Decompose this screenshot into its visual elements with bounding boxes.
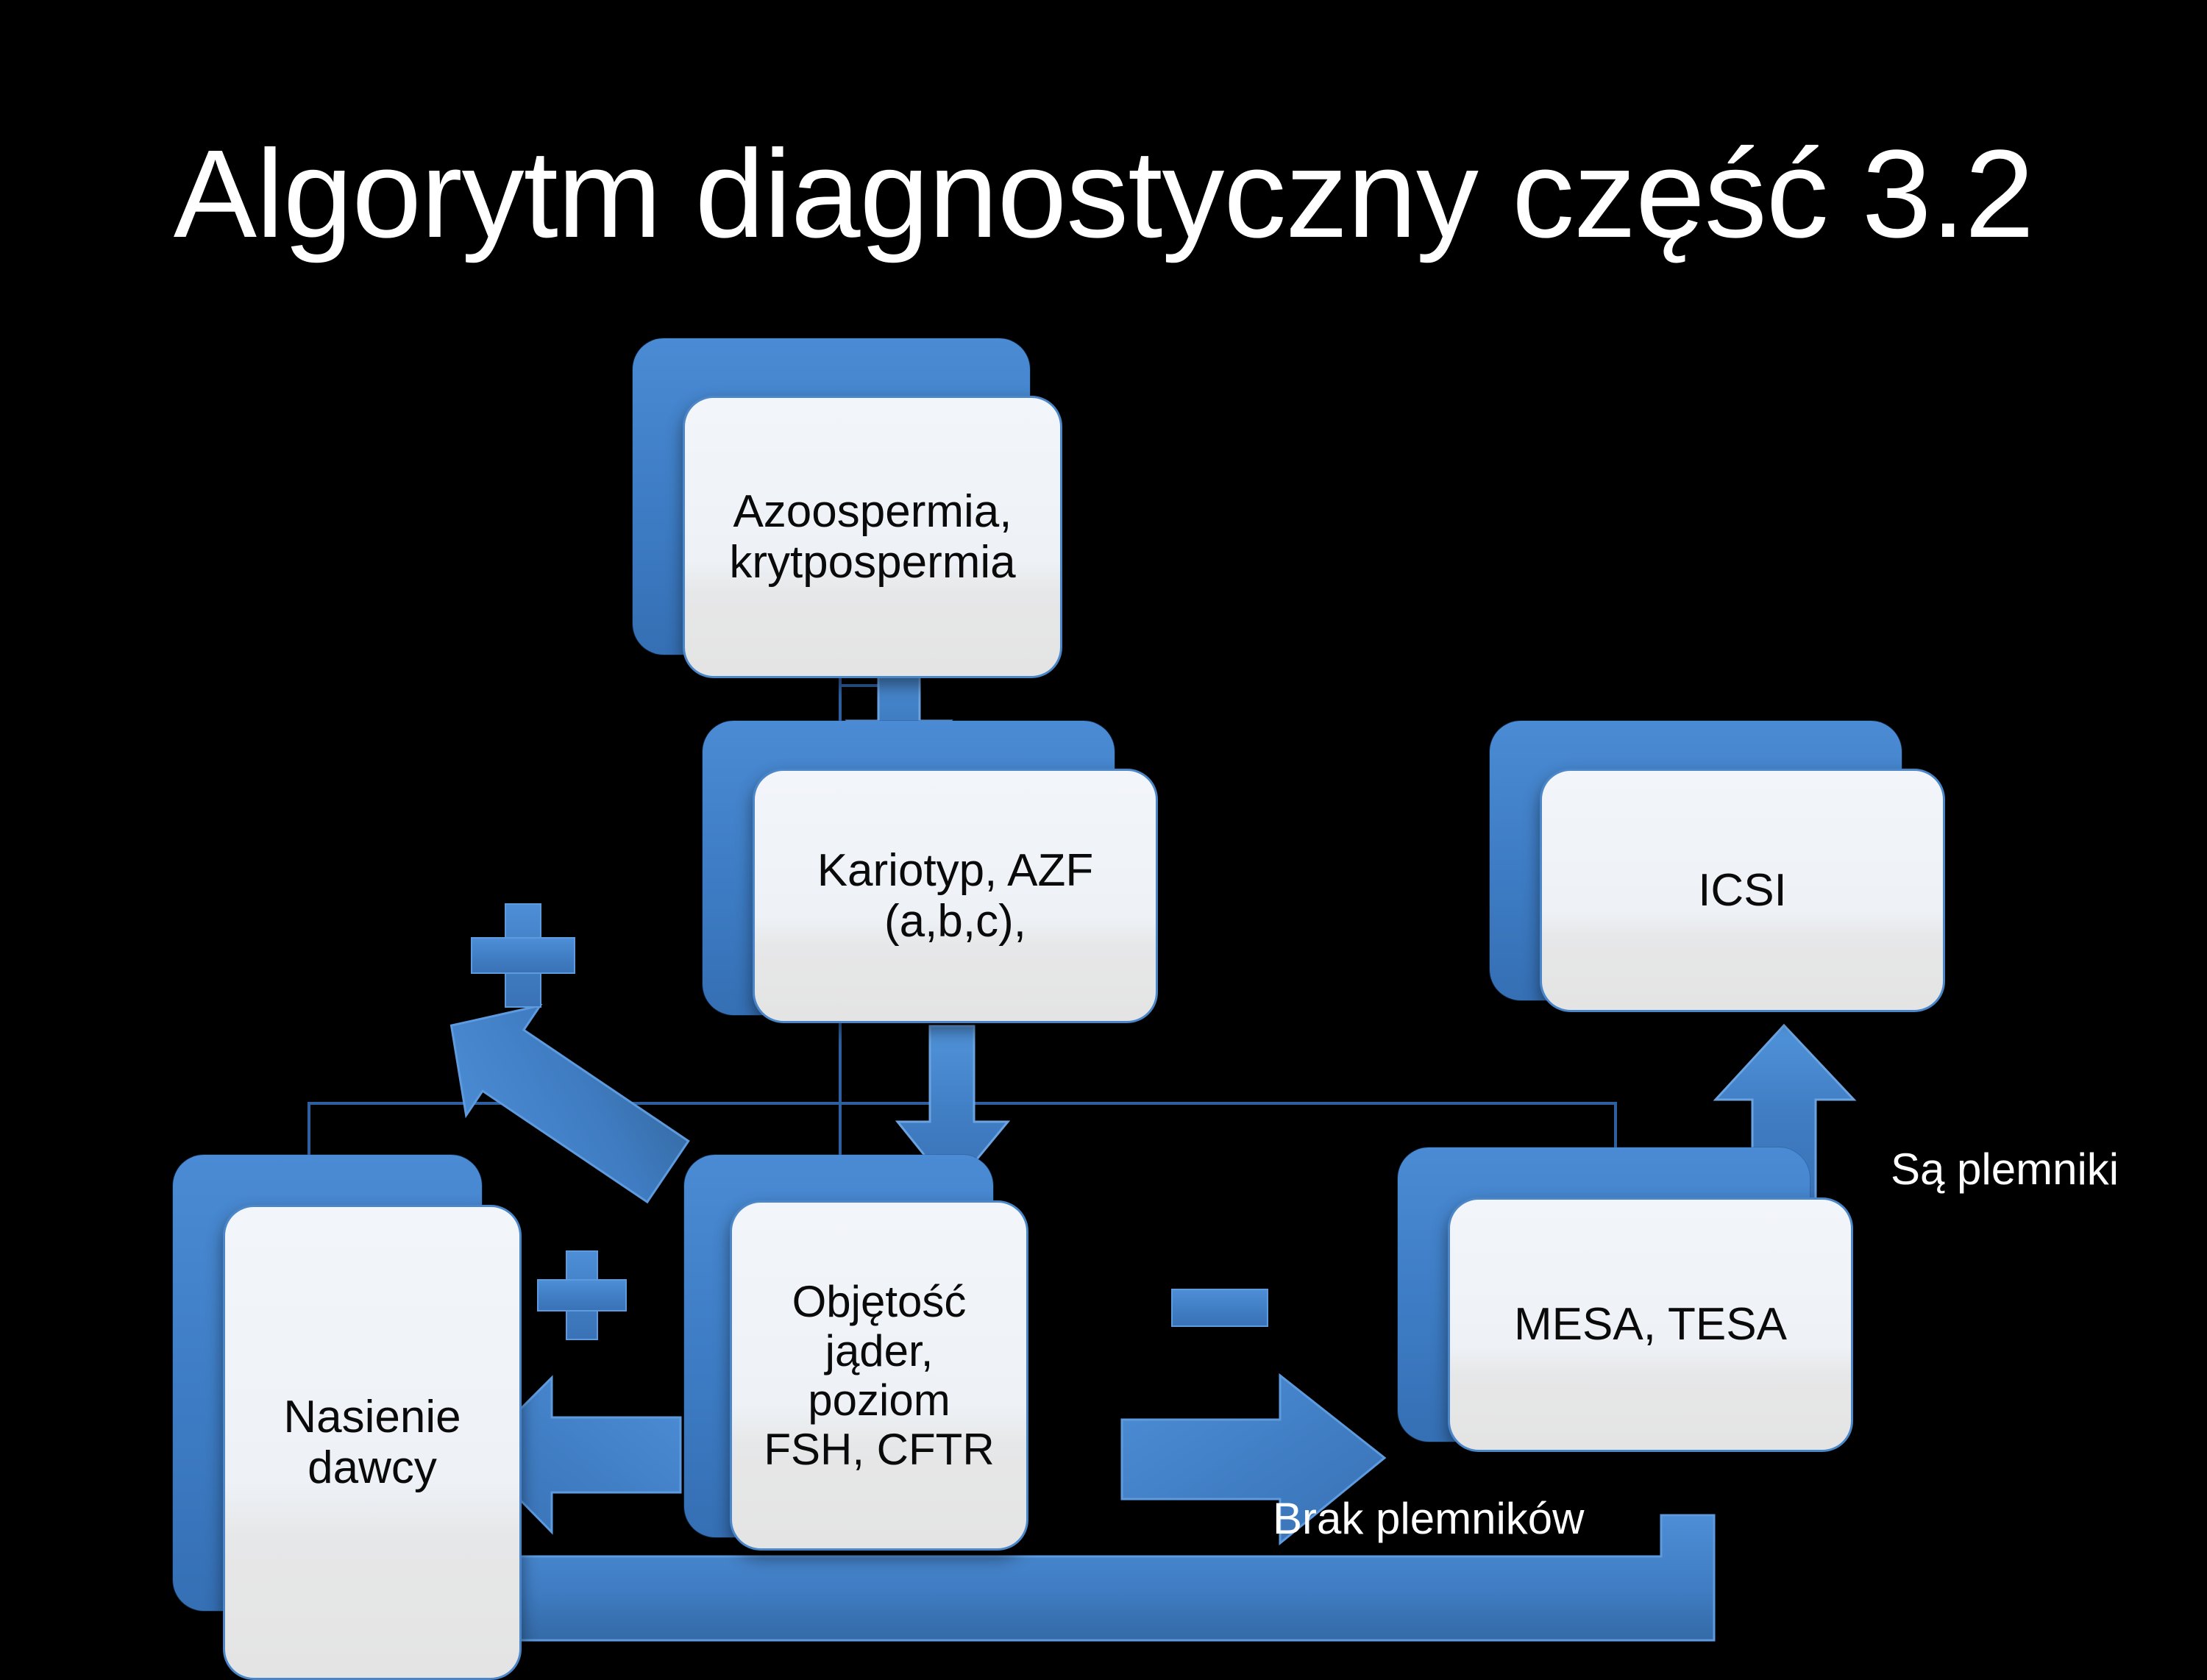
node-label: MESA, TESA [1508, 1299, 1793, 1350]
node-nasienie-dawcy[interactable]: Nasienie dawcy [173, 1155, 482, 1611]
node-face: Objętość jąder, poziom FSH, CFTR [730, 1200, 1028, 1551]
plus-sign-left [471, 903, 572, 1005]
node-mesa-tesa[interactable]: MESA, TESA [1398, 1147, 1810, 1442]
node-face: MESA, TESA [1448, 1197, 1853, 1452]
node-objetosc-jader[interactable]: Objętość jąder, poziom FSH, CFTR [684, 1155, 993, 1537]
node-label: Objętość jąder, poziom FSH, CFTR [758, 1277, 1000, 1475]
node-icsi[interactable]: ICSI [1490, 721, 1902, 1000]
node-azoospermia[interactable]: Azoospermia, krytpospermia [633, 338, 1030, 655]
node-label: Azoospermia, krytpospermia [723, 486, 1021, 588]
node-face: Kariotyp, AZF (a,b,c), [753, 769, 1158, 1023]
slide-canvas: Algorytm diagnostyczny część 3.2 [0, 0, 2207, 1655]
node-face: Azoospermia, krytpospermia [683, 396, 1062, 678]
edge-label-sperm-absent: Brak plemników [1273, 1497, 1585, 1541]
node-kariotyp[interactable]: Kariotyp, AZF (a,b,c), [703, 721, 1115, 1015]
minus-sign-right [1171, 1289, 1265, 1324]
node-face: Nasienie dawcy [223, 1205, 522, 1680]
edge-label-sperm-present: Są plemniki [1891, 1147, 2119, 1192]
plus-sign-middle [537, 1250, 624, 1337]
node-label: Nasienie dawcy [277, 1392, 466, 1494]
node-label: ICSI [1692, 865, 1793, 916]
node-label: Kariotyp, AZF (a,b,c), [811, 845, 1100, 947]
node-face: ICSI [1540, 769, 1945, 1012]
page-title: Algorytm diagnostyczny część 3.2 [0, 129, 2207, 260]
